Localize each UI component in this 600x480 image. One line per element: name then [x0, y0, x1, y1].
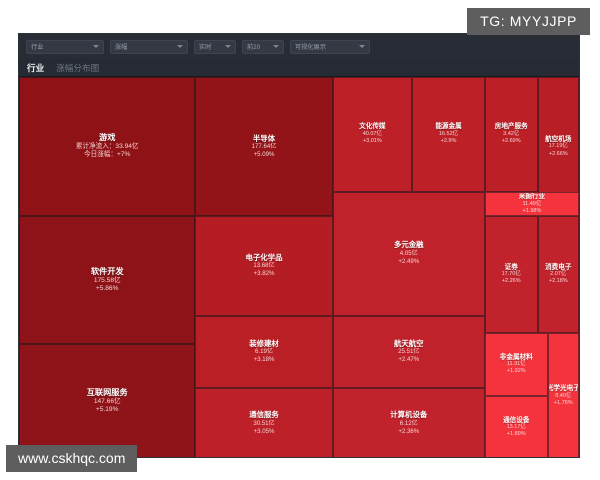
treemap-tile-value: 13.17亿: [507, 424, 526, 431]
chevron-down-icon: [93, 45, 99, 48]
treemap-tile[interactable]: 房地产服务3.42亿+2.69%: [485, 77, 538, 192]
treemap-tile-value: 11.31亿: [507, 361, 526, 368]
treemap-tile-value: 40.07亿: [363, 131, 382, 138]
treemap-tile-name: 游戏: [99, 133, 115, 142]
treemap-tile-percent: +3.05%: [254, 428, 275, 436]
treemap-tile-percent: 今日涨幅：+7%: [84, 151, 130, 160]
metric-select[interactable]: 涨幅: [110, 40, 188, 54]
treemap-tile[interactable]: 装修建材6.19亿+3.18%: [195, 316, 332, 389]
treemap-tile-value: 2.07亿: [550, 271, 566, 278]
top-n-select[interactable]: 前20: [242, 40, 284, 54]
tab-bar: 行业 涨幅分布图: [19, 59, 579, 77]
treemap-tile[interactable]: 消费电子2.07亿+2.18%: [538, 216, 579, 333]
treemap-tile-percent: +5.19%: [96, 406, 119, 415]
chevron-down-icon: [177, 45, 183, 48]
treemap-tile[interactable]: 计算机设备6.12亿+2.36%: [333, 388, 485, 458]
treemap-tile[interactable]: 采掘行业11.49亿+1.98%: [485, 192, 579, 217]
treemap-tile-name: 计算机设备: [390, 411, 427, 420]
treemap-tile-percent: +3.01%: [363, 138, 382, 145]
treemap-tile-name: 通信设备: [503, 417, 529, 425]
screenshot-root: TG: MYYJJPP 行业 涨幅 实时 前20 可视化展示: [0, 0, 600, 480]
metric-select-value: 涨幅: [115, 42, 171, 51]
treemap-tile[interactable]: 半导体177.64亿+5.09%: [195, 77, 332, 216]
treemap-tile-value: 147.66亿: [94, 398, 121, 407]
treemap-tile-percent: +2.36%: [398, 428, 419, 436]
industry-treemap-chart: 游戏累计净流入：33.94亿今日涨幅：+7%软件开发175.58亿+5.86%互…: [19, 77, 579, 458]
treemap-tile-name: 多元金融: [394, 241, 424, 250]
treemap-tile-percent: +5.09%: [254, 151, 275, 159]
treemap-tile-percent: +1.76%: [554, 400, 573, 407]
treemap-tile-value: 13.68亿: [253, 262, 274, 270]
treemap-tile-name: 通信服务: [249, 411, 279, 420]
treemap-tile-percent: +2.18%: [549, 278, 568, 285]
treemap-tile-value: 175.58亿: [94, 277, 121, 286]
timeframe-select[interactable]: 实时: [194, 40, 236, 54]
treemap-tile-value: 6.19亿: [255, 348, 273, 356]
treemap-tile-percent: +1.89%: [507, 431, 526, 438]
treemap-tile[interactable]: 证券17.70亿+2.26%: [485, 216, 538, 333]
treemap-tile-percent: +2.66%: [549, 151, 568, 158]
treemap-tile[interactable]: 能源金属16.52亿+2.9%: [412, 77, 485, 192]
view-mode-select-value: 可视化展示: [295, 42, 353, 51]
treemap-tile-value: 17.19亿: [549, 143, 568, 150]
treemap-tile[interactable]: 互联网服务147.66亿+5.19%: [19, 344, 195, 458]
treemap-tile-value: 11.49亿: [523, 201, 542, 208]
treemap-tile-name: 非金属材料: [500, 354, 533, 362]
chevron-down-icon: [359, 45, 365, 48]
treemap-tile-percent: +2.47%: [398, 356, 419, 364]
treemap-tile[interactable]: 游戏累计净流入：33.94亿今日涨幅：+7%: [19, 77, 195, 216]
treemap-application-window: 行业 涨幅 实时 前20 可视化展示 行业 涨幅分布图: [18, 33, 580, 458]
treemap-tile-percent: +2.26%: [502, 278, 521, 285]
treemap-tile[interactable]: 通信设备13.17亿+1.89%: [485, 396, 548, 458]
treemap-tile[interactable]: 航天航空25.51亿+2.47%: [333, 316, 485, 389]
telegram-handle-badge: TG: MYYJJPP: [467, 8, 590, 35]
treemap-tile-value: 25.51亿: [398, 348, 419, 356]
filter-toolbar: 行业 涨幅 实时 前20 可视化展示: [19, 34, 579, 59]
treemap-tile-name: 采掘行业: [519, 193, 545, 201]
treemap-tile[interactable]: 多元金融4.05亿+2.49%: [333, 192, 485, 316]
chevron-down-icon: [225, 45, 231, 48]
tab-gain-distribution[interactable]: 涨幅分布图: [56, 62, 99, 74]
treemap-tile[interactable]: 非金属材料11.31亿+1.92%: [485, 333, 548, 396]
treemap-tile-value: 16.52亿: [439, 131, 458, 138]
treemap-tile-name: 能源金属: [435, 123, 461, 131]
treemap-tile-value: 4.05亿: [400, 250, 418, 258]
top-n-select-value: 前20: [247, 42, 267, 51]
treemap-tile-percent: +5.86%: [96, 285, 119, 294]
treemap-tile-value: 3.42亿: [503, 131, 519, 138]
treemap-tile-value: 8.40亿: [555, 393, 571, 400]
view-mode-select[interactable]: 可视化展示: [290, 40, 370, 54]
treemap-tile-percent: +2.9%: [441, 138, 457, 145]
treemap-tile-percent: +2.49%: [398, 258, 419, 266]
tab-industry[interactable]: 行业: [27, 62, 44, 74]
treemap-tile-name: 互联网服务: [87, 388, 128, 397]
treemap-tile-value: 17.70亿: [502, 271, 521, 278]
site-watermark: www.cskhqc.com: [6, 445, 137, 472]
chevron-down-icon: [273, 45, 279, 48]
category-select[interactable]: 行业: [26, 40, 104, 54]
treemap-tile[interactable]: 通信服务30.51亿+3.05%: [195, 388, 332, 458]
treemap-tile-value: 177.64亿: [252, 143, 277, 151]
treemap-tile-name: 光学光电子: [548, 385, 579, 393]
treemap-tile-name: 半导体: [253, 135, 275, 144]
treemap-tile-name: 文化传媒: [359, 123, 385, 131]
treemap-tile-percent: +3.82%: [254, 270, 275, 278]
treemap-tile-percent: +1.98%: [523, 208, 542, 215]
treemap-tile-value: 6.12亿: [400, 420, 418, 428]
treemap-tile[interactable]: 文化传媒40.07亿+3.01%: [333, 77, 413, 192]
treemap-tile[interactable]: 电子化学品13.68亿+3.82%: [195, 216, 332, 315]
treemap-tile-name: 软件开发: [91, 267, 124, 276]
treemap-tile[interactable]: 光学光电子8.40亿+1.76%: [548, 333, 579, 458]
category-select-value: 行业: [31, 42, 87, 51]
treemap-tile-percent: +1.92%: [507, 368, 526, 375]
treemap-tile-percent: +3.18%: [254, 356, 275, 364]
treemap-tile-value: 30.51亿: [253, 420, 274, 428]
treemap-tile-name: 房地产服务: [495, 123, 528, 131]
treemap-tile[interactable]: 软件开发175.58亿+5.86%: [19, 216, 195, 344]
treemap-tile-percent: +2.69%: [502, 138, 521, 145]
timeframe-select-value: 实时: [199, 42, 219, 51]
